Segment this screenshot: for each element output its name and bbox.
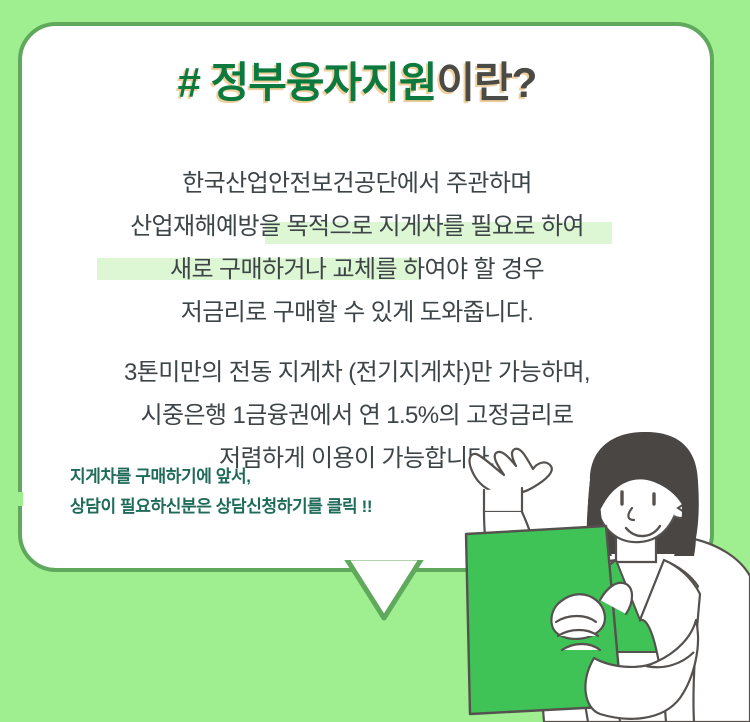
cta-line-2: 상담이 필요하신분은 상담신청하기를 클릭 !! <box>70 492 372 522</box>
title-keyword: 정부융자지원 <box>200 59 437 106</box>
paragraph-one: 한국산업안전보건공단에서 주관하며 산업재해예방을 목적으로 지게차를 필요로 … <box>0 162 714 334</box>
speech-bubble-tail <box>330 556 440 646</box>
title-hash: # <box>178 59 200 106</box>
illustration-woman-with-clipboard <box>440 430 750 722</box>
poster-canvas: # 정부융자지원이란? 한국산업안전보건공단에서 주관하며 산업재해예방을 목적… <box>0 0 750 722</box>
cta-line-1: 지게차를 구매하기에 앞서, <box>70 462 372 492</box>
paragraph-one-line-4: 저금리로 구매할 수 있게 도와줍니다. <box>0 291 714 334</box>
speech-bubble-border-gap <box>14 492 23 506</box>
page-title: # 정부융자지원이란? <box>0 57 714 109</box>
paragraph-two-line-1: 3톤미만의 전동 지게차 (전기지게차)만 가능하며, <box>0 351 714 394</box>
call-to-action-text[interactable]: 지게차를 구매하기에 앞서, 상담이 필요하신분은 상담신청하기를 클릭 !! <box>70 462 372 522</box>
paragraph-one-line-3: 새로 구매하거나 교체를 하여야 할 경우 <box>0 248 714 291</box>
paragraph-one-line-2: 산업재해예방을 목적으로 지게차를 필요로 하여 <box>0 205 714 248</box>
paragraph-one-line-1: 한국산업안전보건공단에서 주관하며 <box>0 162 714 205</box>
title-suffix: 이란? <box>436 59 536 106</box>
